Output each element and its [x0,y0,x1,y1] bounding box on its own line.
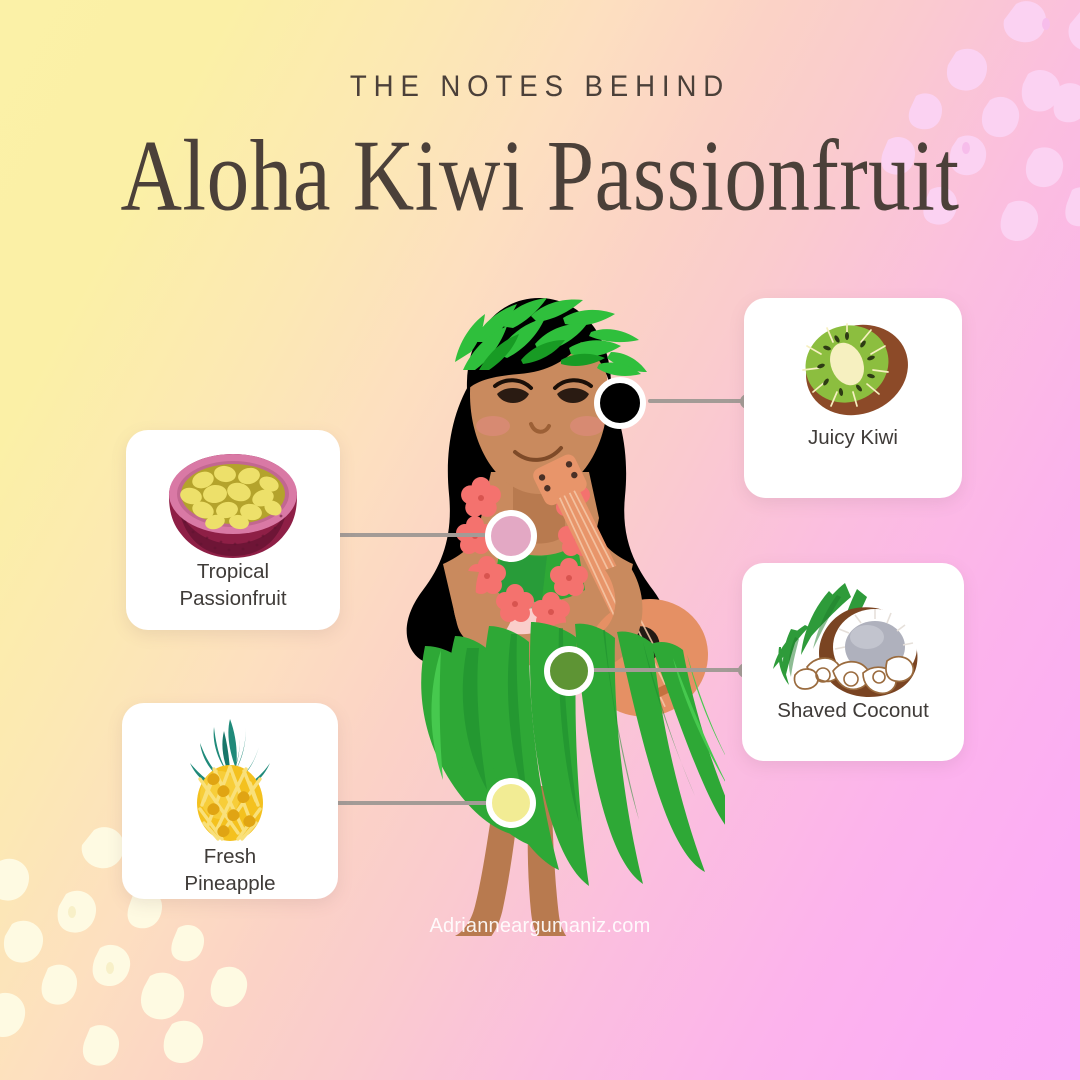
header-block: THE NOTES BEHIND Aloha Kiwi Passionfruit [0,72,1080,212]
coconut-icon [771,575,936,697]
card-coconut[interactable]: Shaved Coconut [742,563,964,761]
card-label-pineapple: Fresh Pineapple [184,843,275,897]
page-title: Aloha Kiwi Passionfruit [5,122,1074,229]
poster-canvas: THE NOTES BEHIND Aloha Kiwi Passionfruit [0,0,1080,1080]
card-kiwi[interactable]: Juicy Kiwi [744,298,962,498]
passionfruit-icon [163,450,303,558]
card-label-passionfruit: Tropical Passionfruit [179,558,286,612]
hula-dancer-illustration [355,286,725,936]
card-label-kiwi: Juicy Kiwi [808,424,898,451]
watermark-text: Adrianneargumaniz.com [0,915,1080,938]
card-passionfruit[interactable]: Tropical Passionfruit [126,430,340,630]
card-pineapple[interactable]: Fresh Pineapple [122,703,338,899]
pineapple-icon [174,713,286,843]
card-label-coconut: Shaved Coconut [777,697,929,724]
kiwi-icon [793,314,913,424]
eyebrow-text: THE NOTES BEHIND [43,72,1037,102]
